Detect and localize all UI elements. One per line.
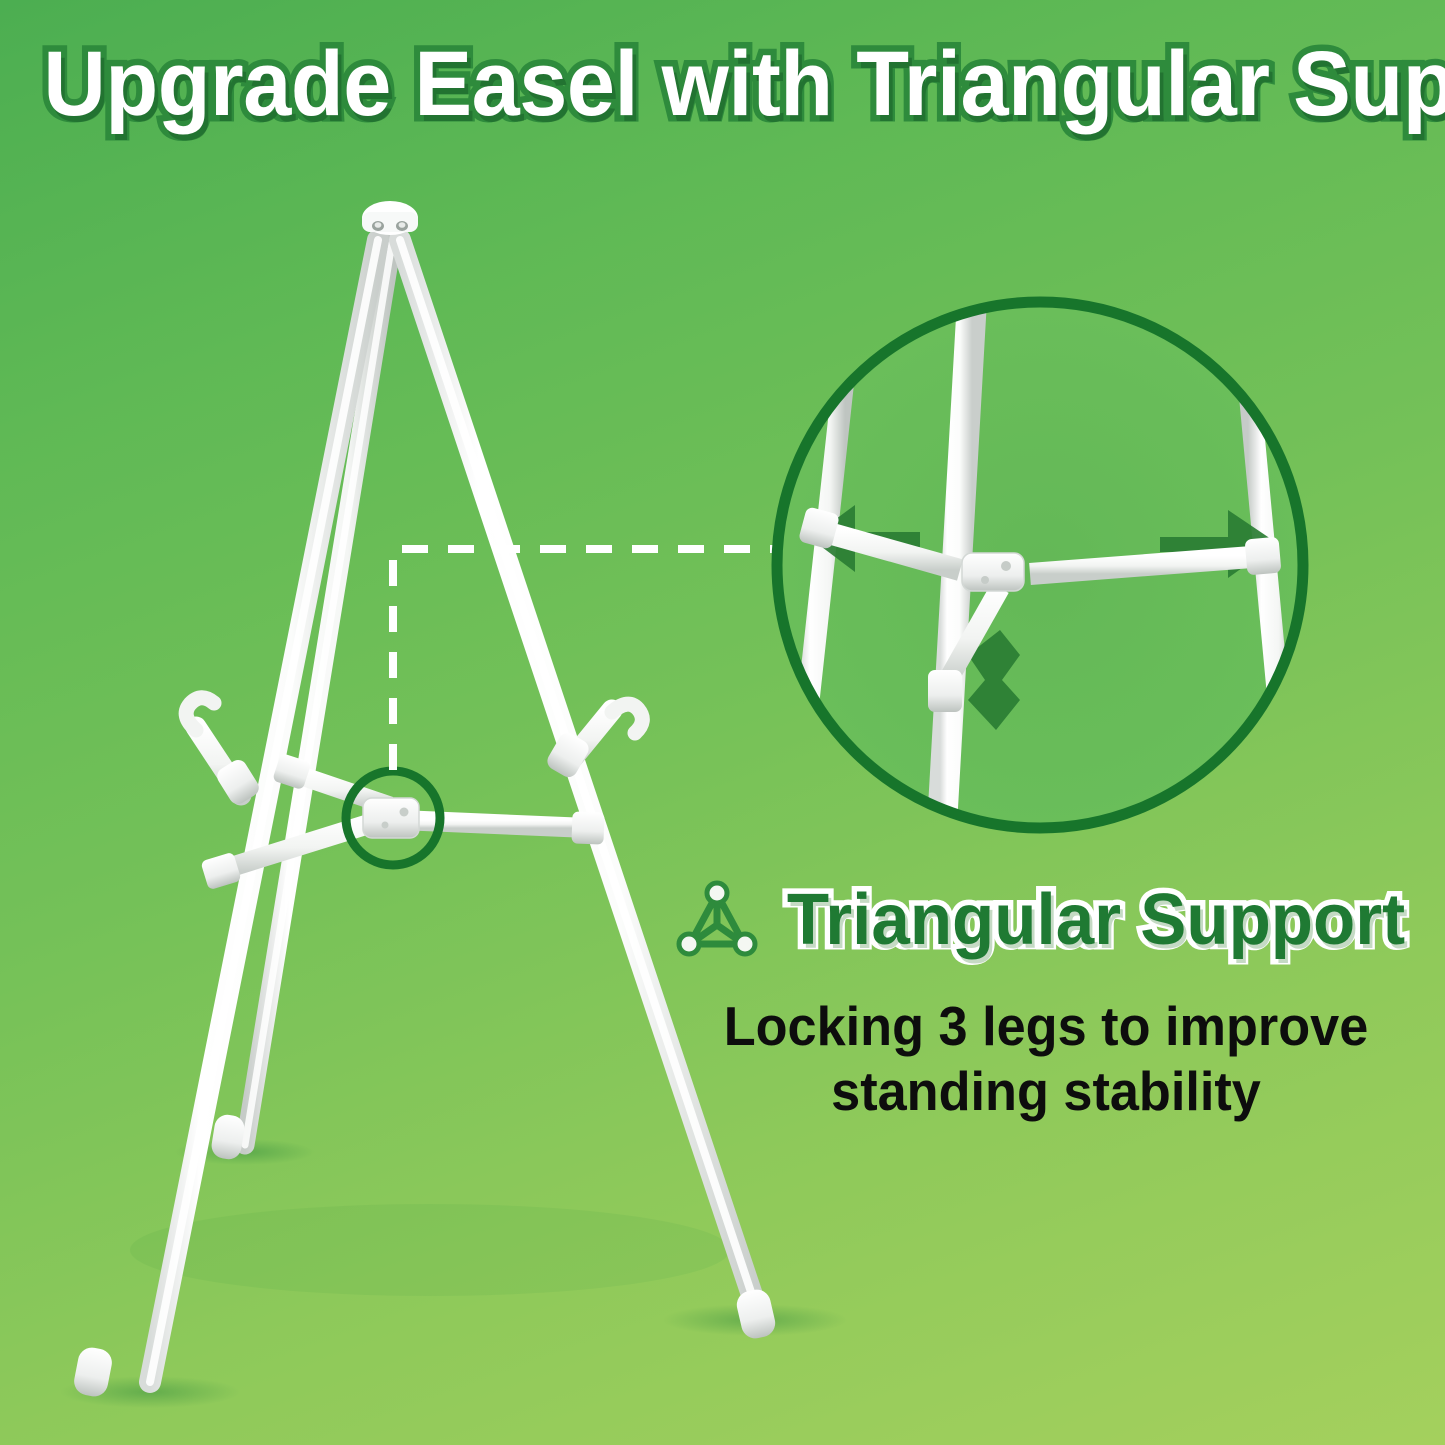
rear-leg: [245, 243, 392, 1145]
feature-title: Triangular Support: [787, 884, 1405, 956]
page-title: Upgrade Easel with Triangular Support: [43, 38, 1401, 130]
feature-heading-row: Triangular Support: [672, 880, 1420, 960]
apex-cap: [362, 201, 418, 235]
triangular-support-hub: [363, 798, 419, 838]
easel-illustration: [0, 0, 1445, 1445]
triangular-support-icon: [674, 880, 760, 960]
feature-text-block: Triangular Support Locking 3 legs to imp…: [672, 880, 1420, 1124]
product-feature-image: Upgrade Easel with Triangular Support Tr…: [0, 0, 1445, 1445]
feature-subtitle: Locking 3 legs to improve standing stabi…: [691, 994, 1402, 1124]
feature-subtitle-line-1: Locking 3 legs to improve: [691, 994, 1402, 1059]
feature-subtitle-line-2: standing stability: [691, 1059, 1402, 1124]
front-right-leg: [400, 240, 757, 1310]
magnifier-detail-view: [770, 295, 1315, 860]
left-canvas-hook: [186, 698, 262, 808]
